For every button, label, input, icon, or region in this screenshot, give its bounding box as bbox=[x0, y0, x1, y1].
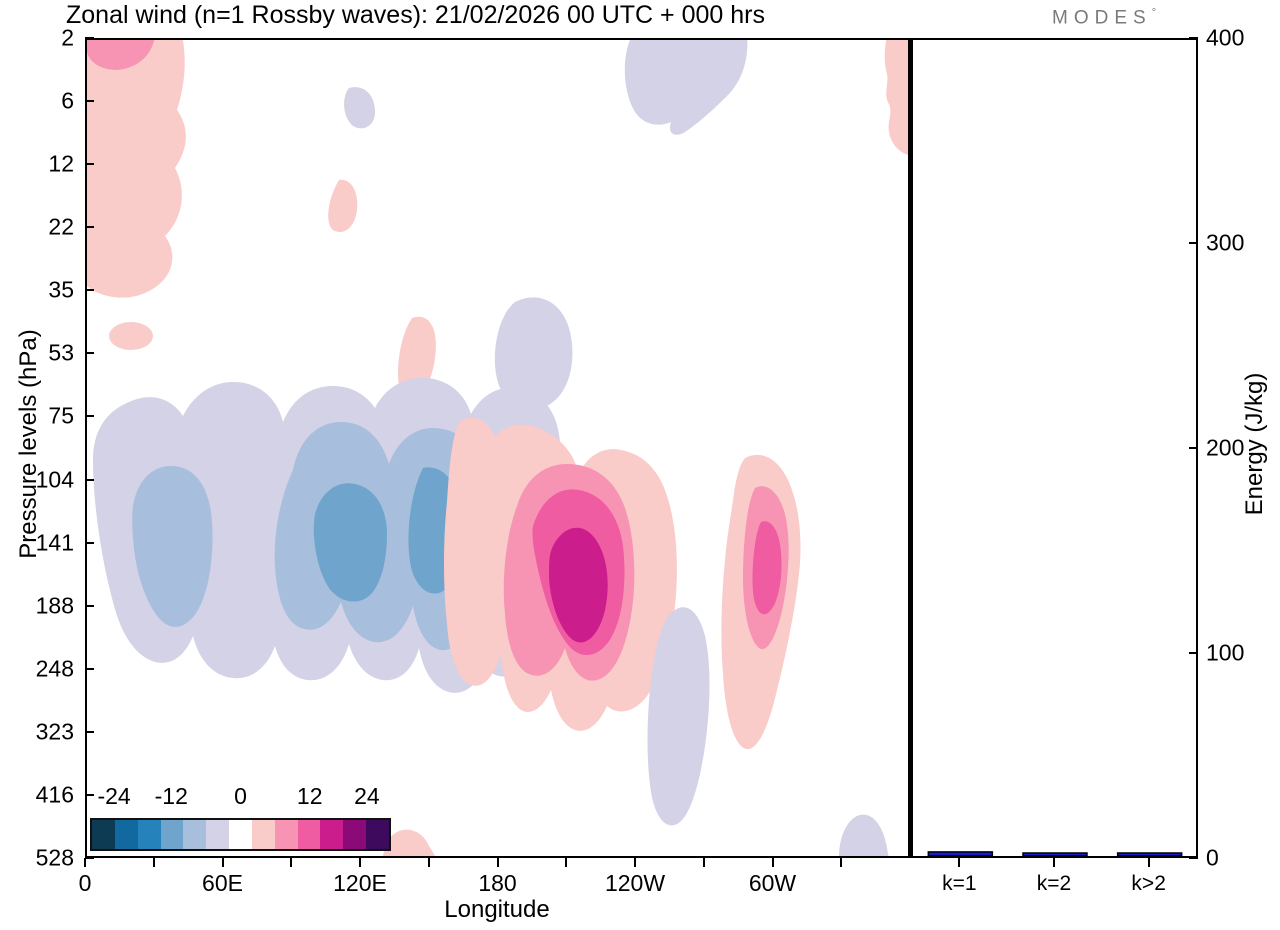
x-tick-label: 60E bbox=[202, 870, 243, 897]
colorbar-segment bbox=[138, 820, 161, 849]
right-tick-mark bbox=[1189, 37, 1198, 39]
colorbar-tick-label: 0 bbox=[234, 783, 247, 810]
y-tick-label: 528 bbox=[36, 845, 74, 872]
zonal-wind-contour-panel bbox=[85, 38, 910, 858]
y-tick-label: 22 bbox=[48, 214, 74, 241]
x-tick-label: 120E bbox=[333, 870, 387, 897]
energy-bar-tick bbox=[1053, 858, 1055, 867]
right-tick-mark bbox=[1189, 652, 1198, 654]
y-tick-label: 416 bbox=[36, 781, 74, 808]
right-tick-mark bbox=[1189, 447, 1198, 449]
y-tick-mark bbox=[85, 479, 94, 481]
energy-bar-label: k>2 bbox=[1131, 872, 1165, 896]
right-axis-title: Energy (J/kg) bbox=[1241, 264, 1269, 624]
colorbar-segment bbox=[320, 820, 343, 849]
y-tick-label: 12 bbox=[48, 151, 74, 178]
colorbar-segment bbox=[298, 820, 321, 849]
x-minor-tick-mark bbox=[703, 858, 705, 867]
energy-bar bbox=[1023, 853, 1087, 856]
right-tick-label: 400 bbox=[1206, 25, 1244, 52]
y-tick-label: 53 bbox=[48, 340, 74, 367]
right-tick-label: 300 bbox=[1206, 230, 1244, 257]
energy-bars bbox=[913, 40, 1197, 856]
colorbar-segment bbox=[115, 820, 138, 849]
colorbar-tick-label: 12 bbox=[297, 783, 323, 810]
right-tick-label: 200 bbox=[1206, 435, 1244, 462]
colorbar-segment bbox=[229, 820, 252, 849]
y-tick-mark bbox=[85, 415, 94, 417]
x-axis-title: Longitude bbox=[297, 896, 697, 924]
energy-bar bbox=[1118, 853, 1182, 856]
colorbar-tick-label: 24 bbox=[354, 783, 380, 810]
y-tick-mark bbox=[85, 542, 94, 544]
energy-bar-label: k=1 bbox=[942, 872, 976, 896]
x-tick-mark bbox=[222, 858, 224, 867]
colorbar-tick-label: -12 bbox=[155, 783, 188, 810]
y-tick-mark bbox=[85, 37, 94, 39]
right-tick-label: 100 bbox=[1206, 640, 1244, 667]
colorbar bbox=[90, 818, 391, 851]
y-tick-mark bbox=[85, 794, 94, 796]
y-tick-mark bbox=[85, 731, 94, 733]
y-tick-label: 35 bbox=[48, 277, 74, 304]
y-tick-mark bbox=[85, 100, 94, 102]
energy-bar bbox=[928, 852, 992, 856]
x-tick-mark bbox=[634, 858, 636, 867]
colorbar-segment bbox=[183, 820, 206, 849]
x-tick-mark bbox=[359, 858, 361, 867]
colorbar-segment bbox=[275, 820, 298, 849]
contour-field bbox=[87, 40, 908, 856]
modes-logo-degree-icon: ° bbox=[1152, 7, 1156, 19]
y-tick-mark bbox=[85, 226, 94, 228]
modes-logo-text: MODES bbox=[1052, 7, 1152, 28]
colorbar-segment bbox=[206, 820, 229, 849]
colorbar-segment bbox=[252, 820, 275, 849]
colorbar-tick-label: -24 bbox=[97, 783, 130, 810]
colorbar-segment bbox=[343, 820, 366, 849]
y-tick-label: 75 bbox=[48, 403, 74, 430]
x-tick-label: 60W bbox=[749, 870, 796, 897]
energy-bar-panel bbox=[910, 38, 1198, 858]
colorbar-segment bbox=[366, 820, 389, 849]
y-tick-label: 2 bbox=[61, 25, 74, 52]
y-tick-mark bbox=[85, 289, 94, 291]
y-tick-label: 323 bbox=[36, 718, 74, 745]
x-tick-label: 0 bbox=[79, 870, 92, 897]
energy-bar-tick bbox=[1148, 858, 1150, 867]
right-tick-label: 0 bbox=[1206, 845, 1219, 872]
page-title: Zonal wind (n=1 Rossby waves): 21/02/202… bbox=[66, 1, 765, 30]
x-minor-tick-mark bbox=[565, 858, 567, 867]
energy-bar-label: k=2 bbox=[1037, 872, 1071, 896]
y-tick-mark bbox=[85, 668, 94, 670]
y-tick-label: 248 bbox=[36, 655, 74, 682]
colorbar-segment bbox=[92, 820, 115, 849]
colorbar-segment bbox=[161, 820, 184, 849]
y-axis-title: Pressure levels (hPa) bbox=[15, 264, 43, 624]
y-tick-mark bbox=[85, 163, 94, 165]
right-tick-mark bbox=[1189, 857, 1198, 859]
x-tick-mark bbox=[84, 858, 86, 867]
energy-bar-tick bbox=[958, 858, 960, 867]
x-tick-label: 120W bbox=[605, 870, 665, 897]
x-tick-mark bbox=[772, 858, 774, 867]
x-minor-tick-mark bbox=[290, 858, 292, 867]
x-minor-tick-mark bbox=[428, 858, 430, 867]
right-tick-mark bbox=[1189, 242, 1198, 244]
x-minor-tick-mark bbox=[840, 858, 842, 867]
x-tick-label: 180 bbox=[478, 870, 516, 897]
figure-root: Zonal wind (n=1 Rossby waves): 21/02/202… bbox=[0, 0, 1280, 930]
y-tick-mark bbox=[85, 352, 94, 354]
y-tick-label: 6 bbox=[61, 88, 74, 115]
x-minor-tick-mark bbox=[153, 858, 155, 867]
y-tick-mark bbox=[85, 857, 94, 859]
x-tick-mark bbox=[497, 858, 499, 867]
modes-logo: MODES° bbox=[1052, 7, 1156, 29]
y-tick-mark bbox=[85, 605, 94, 607]
